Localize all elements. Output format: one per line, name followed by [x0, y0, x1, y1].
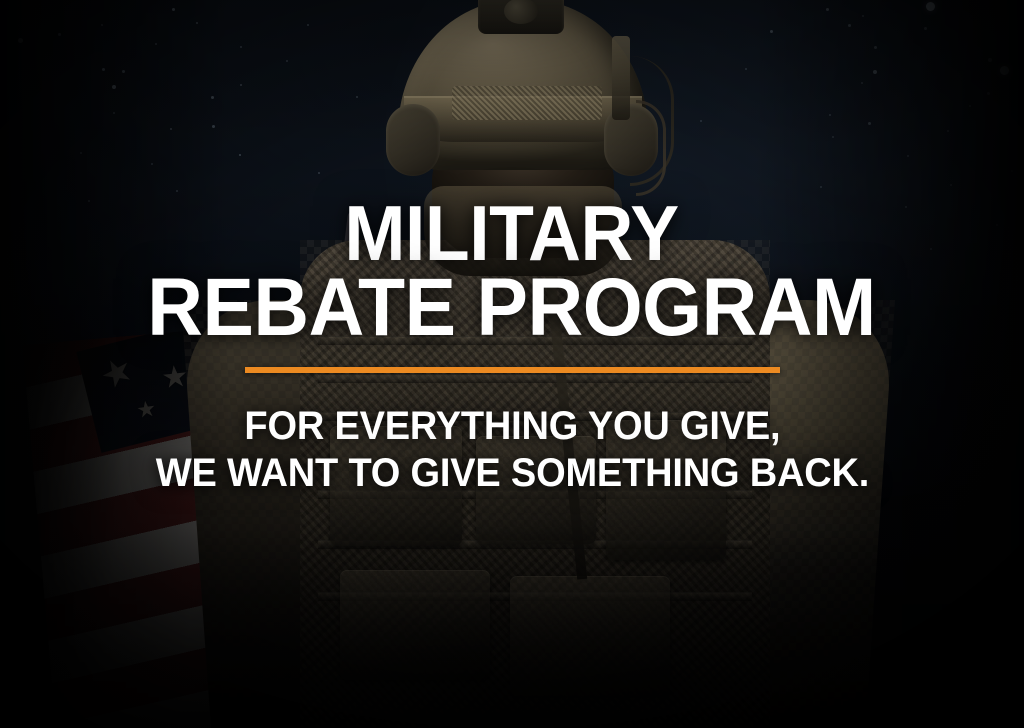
subheading: FOR EVERYTHING YOU GIVE, WE WANT TO GIVE…: [155, 403, 868, 497]
banner-content: MILITARY REBATE PROGRAM FOR EVERYTHING Y…: [0, 0, 1024, 728]
page-title: MILITARY REBATE PROGRAM: [148, 198, 877, 345]
orange-divider: [245, 367, 780, 373]
subheading-line-1: FOR EVERYTHING YOU GIVE,: [155, 403, 868, 450]
headline-line-2: REBATE PROGRAM: [148, 270, 877, 345]
military-rebate-banner: ★★★★★★: [0, 0, 1024, 728]
headline-line-1: MILITARY: [148, 198, 877, 270]
subheading-line-2: WE WANT TO GIVE SOMETHING BACK.: [155, 450, 868, 497]
